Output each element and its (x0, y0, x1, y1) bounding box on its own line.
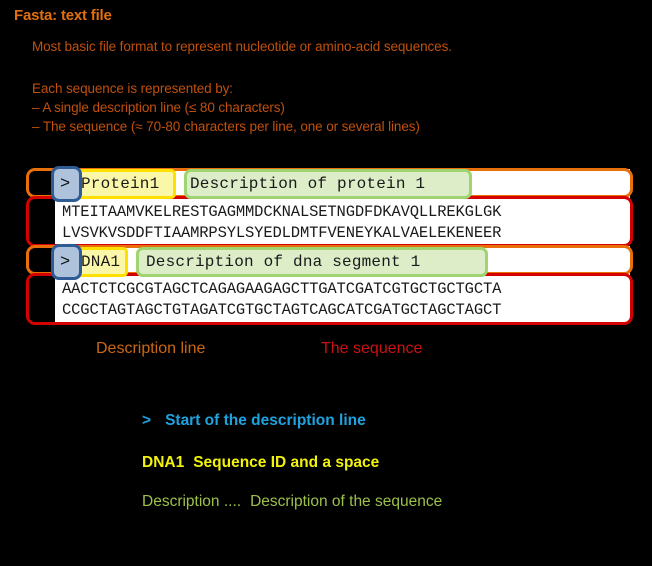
greater-than-icon: > (60, 253, 70, 272)
page-title: Fasta: text file (14, 7, 112, 24)
legend-item-start-of-description-line: >Start of the description line (142, 412, 366, 430)
description-text-2: Description of dna segment 1 (146, 253, 420, 271)
legend-key: DNA1 (142, 454, 184, 471)
sequence-line: LVSVKVSDDFTIAAMRPSYLSYEDLDMTFVENEYKALVAE… (62, 224, 501, 242)
sequence-id-text-1: Protein1 (81, 175, 159, 193)
intro-line-2: – A single description line (≤ 80 charac… (32, 100, 285, 115)
legend-key: Description .... (142, 493, 241, 510)
greater-than-highlight-2: > (51, 244, 82, 280)
legend-key: > (142, 412, 151, 429)
sequence-line: MTEITAAMVKELRESTGAGMMDCKNALSETNGDFDKAVQL… (62, 203, 501, 221)
legend-value: Sequence ID and a space (193, 454, 379, 471)
intro-line-0: Most basic file format to represent nucl… (32, 39, 452, 54)
description-text-1: Description of protein 1 (190, 175, 425, 193)
greater-than-icon: > (60, 175, 70, 194)
intro-line-1: Each sequence is represented by: (32, 81, 233, 96)
caption-description-line: Description line (96, 340, 205, 358)
caption-the-sequence: The sequence (321, 340, 422, 358)
greater-than-highlight-1: > (51, 166, 82, 202)
legend-item-sequence-id: DNA1Sequence ID and a space (142, 454, 379, 472)
legend-item-description: Description ....Description of the seque… (142, 493, 442, 511)
sequence-line: CCGCTAGTAGCTGTAGATCGTGCTAGTCAGCATCGATGCT… (62, 301, 501, 319)
sequence-id-text-2: DNA1 (81, 253, 120, 271)
sequence-line: AACTCTCGCGTAGCTCAGAGAAGAGCTTGATCGATCGTGC… (62, 280, 501, 298)
intro-line-3: – The sequence (≈ 70-80 characters per l… (32, 119, 420, 134)
legend-value: Start of the description line (165, 412, 366, 429)
legend-value: Description of the sequence (250, 493, 442, 510)
